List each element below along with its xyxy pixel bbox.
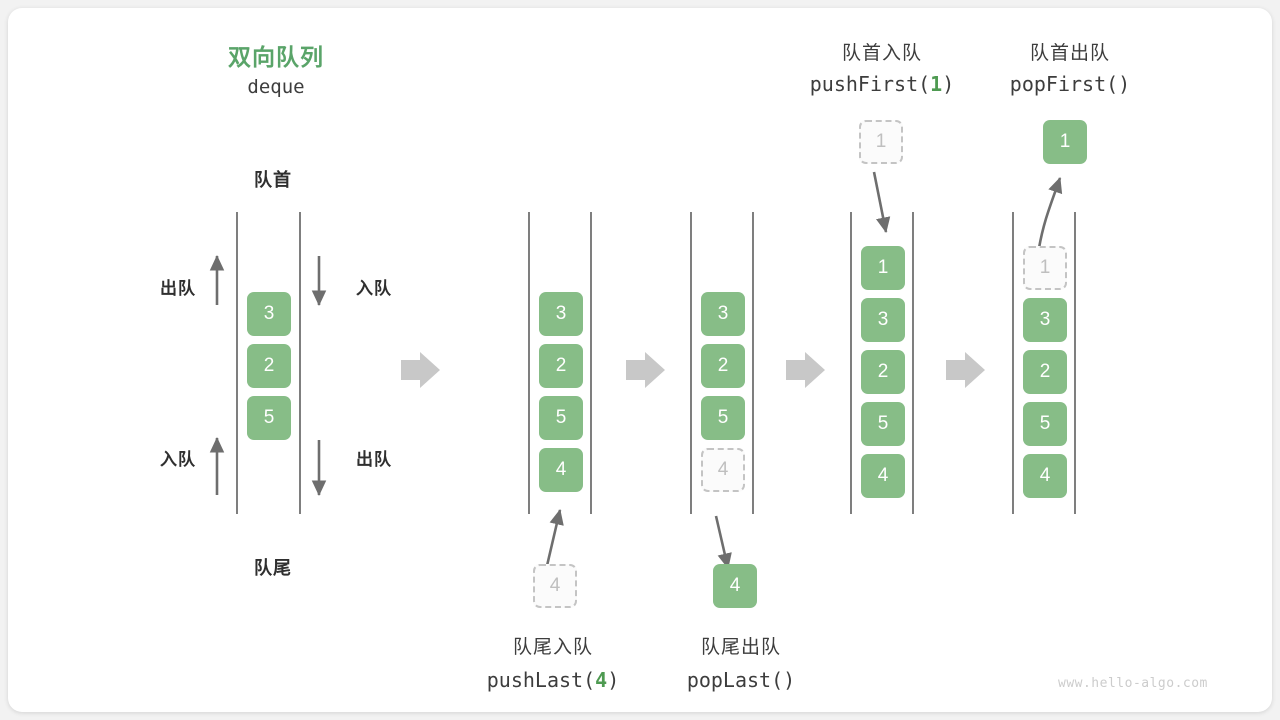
step-flow-arrow-4 xyxy=(946,352,985,388)
deque-cell: 4 xyxy=(1023,454,1067,498)
diagram-root: 双向队列 deque 队首入队 pushFirst(1) 队首出队 popFir… xyxy=(0,0,1280,720)
deque-cell: 2 xyxy=(701,344,745,388)
watermark: www.hello-algo.com xyxy=(1058,676,1208,691)
floating-cell-pop-last-result: 4 xyxy=(713,564,757,608)
deque-cell: 5 xyxy=(1023,402,1067,446)
pop-first-arrow xyxy=(1039,178,1060,248)
pop-last-arrow xyxy=(716,516,728,568)
deque-cell: 5 xyxy=(539,396,583,440)
deque-cell: 4 xyxy=(861,454,905,498)
push-first-arrow xyxy=(874,172,886,232)
deque-cell: 5 xyxy=(247,396,291,440)
deque-cell-ghost: 1 xyxy=(1023,246,1067,290)
deque-cell: 3 xyxy=(861,298,905,342)
step-flow-arrow-1 xyxy=(401,352,440,388)
deque-cell-ghost: 4 xyxy=(701,448,745,492)
deque-cell: 2 xyxy=(247,344,291,388)
deque-cell: 3 xyxy=(1023,298,1067,342)
diagram-card: 双向队列 deque 队首入队 pushFirst(1) 队首出队 popFir… xyxy=(8,8,1272,712)
deque-cell: 2 xyxy=(539,344,583,388)
deque-cell: 5 xyxy=(701,396,745,440)
floating-cell-push-first-source: 1 xyxy=(859,120,903,164)
floating-cell-pop-first-result: 1 xyxy=(1043,120,1087,164)
push-last-arrow xyxy=(546,510,560,570)
step-flow-arrow-3 xyxy=(786,352,825,388)
deque-cell: 1 xyxy=(861,246,905,290)
deque-cell: 3 xyxy=(247,292,291,336)
diagram-vector-layer xyxy=(8,8,1272,712)
deque-cell: 2 xyxy=(1023,350,1067,394)
deque-cell: 4 xyxy=(539,448,583,492)
deque-cell: 3 xyxy=(539,292,583,336)
deque-cell: 3 xyxy=(701,292,745,336)
step-flow-arrow-2 xyxy=(626,352,665,388)
deque-cell: 2 xyxy=(861,350,905,394)
deque-cell: 5 xyxy=(861,402,905,446)
floating-cell-push-last-source: 4 xyxy=(533,564,577,608)
